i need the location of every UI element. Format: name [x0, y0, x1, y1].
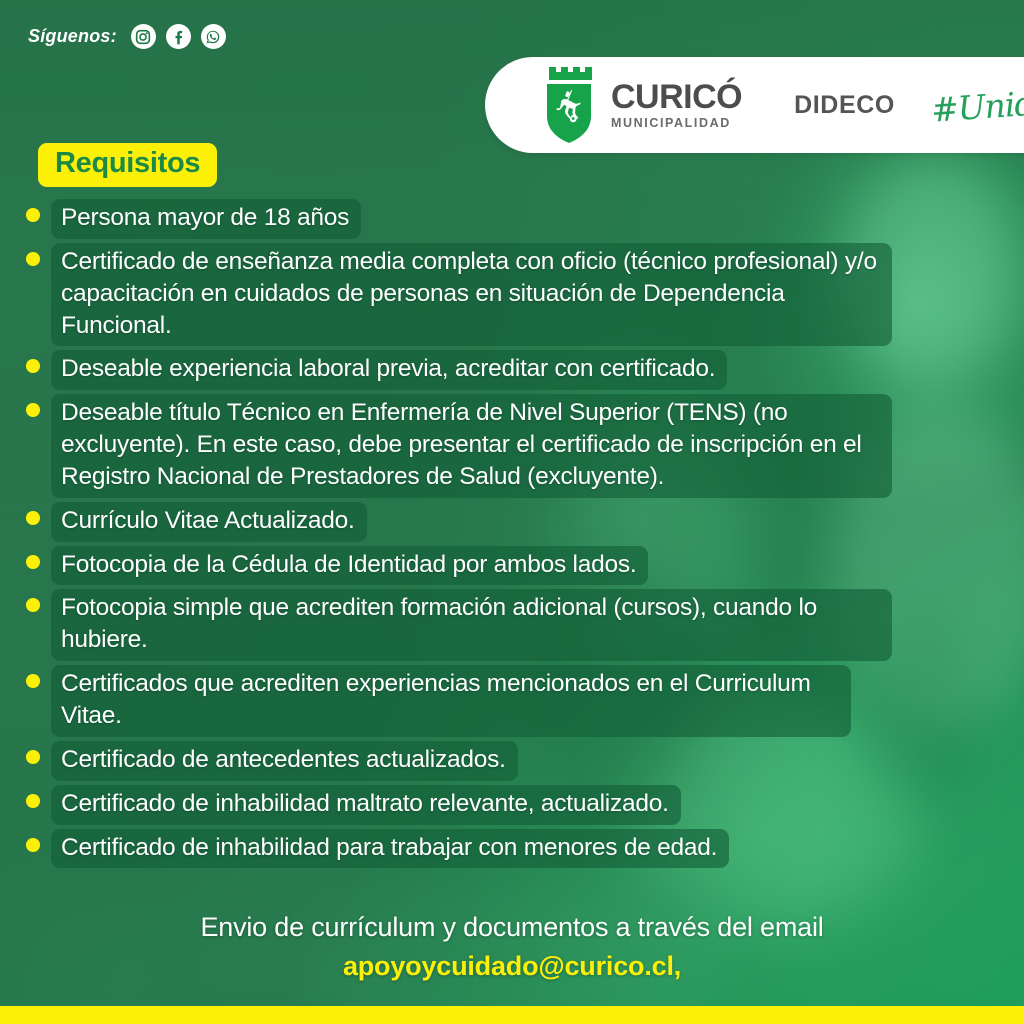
bullet-icon — [26, 674, 40, 688]
requirement-text: Deseable título Técnico en Enfermería de… — [51, 394, 892, 498]
bottom-accent-bar — [0, 1006, 1024, 1024]
curico-crest-icon — [541, 67, 597, 143]
requirement-text: Fotocopia de la Cédula de Identidad por … — [51, 546, 648, 586]
poster-canvas: Síguenos: — [0, 0, 1024, 1024]
footer-instruction: Envio de currículum y documentos a travé… — [0, 912, 1024, 943]
requirement-text: Deseable experiencia laboral previa, acr… — [51, 350, 727, 390]
requirement-text: Currículo Vitae Actualizado. — [51, 502, 367, 542]
list-item: Certificado de inhabilidad para trabajar… — [22, 829, 892, 869]
list-item: Certificado de inhabilidad maltrato rele… — [22, 785, 892, 825]
brand-logo-bar: CURICÓ MUNICIPALIDAD DIDECO #Unidos — [485, 57, 1024, 153]
bullet-icon — [26, 794, 40, 808]
list-item: Fotocopia de la Cédula de Identidad por … — [22, 546, 892, 586]
bullet-icon — [26, 511, 40, 525]
contact-email-link[interactable]: apoyoycuidado@curico.cl, — [0, 951, 1024, 982]
requisitos-badge: Requisitos — [38, 143, 217, 187]
dideco-label: DIDECO — [794, 91, 895, 120]
bullet-icon — [26, 403, 40, 417]
bullet-icon — [26, 252, 40, 266]
social-follow-row: Síguenos: — [28, 24, 226, 49]
bullet-icon — [26, 555, 40, 569]
follow-label: Síguenos: — [28, 26, 117, 47]
bullet-icon — [26, 359, 40, 373]
list-item: Deseable título Técnico en Enfermería de… — [22, 394, 892, 498]
list-item: Certificados que acrediten experiencias … — [22, 665, 892, 737]
bullet-icon — [26, 208, 40, 222]
wordmark-sub: MUNICIPALIDAD — [611, 117, 742, 130]
list-item: Persona mayor de 18 años — [22, 199, 892, 239]
list-item: Certificado de enseñanza media completa … — [22, 243, 892, 347]
bullet-icon — [26, 750, 40, 764]
bullet-icon — [26, 838, 40, 852]
requirement-text: Certificado de antecedentes actualizados… — [51, 741, 518, 781]
footer-contact: Envio de currículum y documentos a travé… — [0, 912, 1024, 982]
requirement-text: Persona mayor de 18 años — [51, 199, 361, 239]
requirement-text: Certificado de inhabilidad maltrato rele… — [51, 785, 681, 825]
bullet-icon — [26, 598, 40, 612]
requirement-text: Fotocopia simple que acrediten formación… — [51, 589, 892, 661]
list-item: Currículo Vitae Actualizado. — [22, 502, 892, 542]
facebook-icon[interactable] — [166, 24, 191, 49]
list-item: Deseable experiencia laboral previa, acr… — [22, 350, 892, 390]
whatsapp-icon[interactable] — [201, 24, 226, 49]
list-item: Certificado de antecedentes actualizados… — [22, 741, 892, 781]
requirements-list: Persona mayor de 18 años Certificado de … — [22, 199, 892, 872]
list-item: Fotocopia simple que acrediten formación… — [22, 589, 892, 661]
curico-wordmark: CURICÓ MUNICIPALIDAD — [611, 80, 742, 130]
wordmark-main: CURICÓ — [611, 80, 742, 114]
instagram-icon[interactable] — [131, 24, 156, 49]
requirement-text: Certificado de inhabilidad para trabajar… — [51, 829, 729, 869]
requirement-text: Certificados que acrediten experiencias … — [51, 665, 851, 737]
unidos-hashtag: #Unidos — [930, 81, 1024, 130]
requirement-text: Certificado de enseñanza media completa … — [51, 243, 892, 347]
